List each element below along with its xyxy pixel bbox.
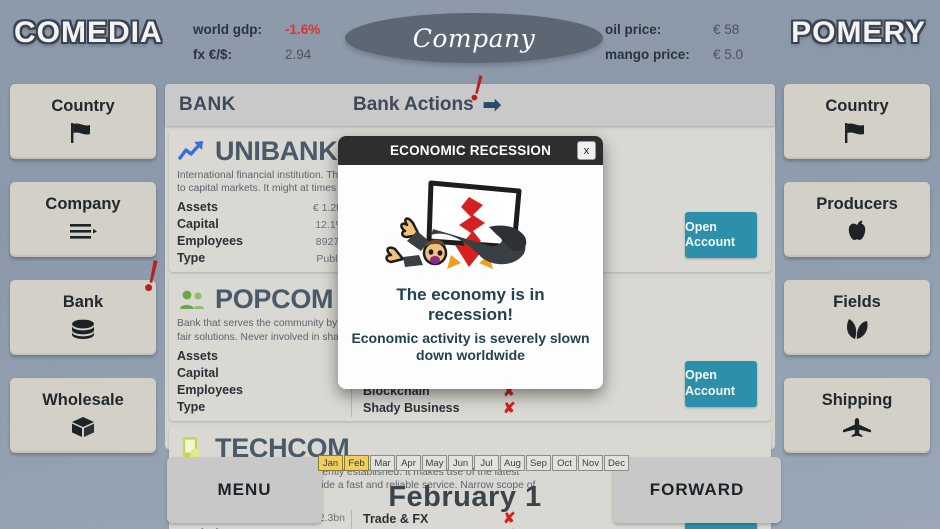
sidebar-item-country-right[interactable]: Country — [784, 84, 930, 159]
stat-fx-label: fx €/$: — [193, 47, 285, 62]
open-account-button[interactable]: Open Account — [685, 522, 757, 529]
page-title: BANK — [179, 94, 236, 116]
open-account-button[interactable]: Open Account — [685, 361, 757, 407]
brand-left: COMEDIA — [14, 16, 163, 50]
month-cell[interactable]: Jul — [474, 455, 499, 471]
stat-mango-price-label: mango price: — [605, 47, 713, 62]
month-cell[interactable]: Dec — [604, 455, 629, 471]
stat-oil-price: oil price: € 58 — [605, 22, 743, 47]
sidebar-item-fields[interactable]: Fields — [784, 280, 930, 355]
market-crash-icon — [338, 165, 603, 283]
bank-stat-key: Employees — [177, 383, 243, 397]
list-lines-icon — [67, 219, 99, 243]
month-cell[interactable]: Sep — [526, 455, 551, 471]
sidebar-item-bank[interactable]: Bank — [10, 280, 156, 355]
stat-world-gdp-label: world gdp: — [193, 22, 285, 37]
stat-world-gdp-value: -1.6% — [285, 22, 320, 37]
bank-stat-row: Employees89273 — [177, 234, 345, 251]
world-stats-right: oil price: € 58 mango price: € 5.0 — [605, 22, 743, 72]
month-timeline: Jan Feb Mar Apr May Jun Jul Aug Sep Oct … — [318, 455, 629, 471]
bank-name: POPCOM — [215, 284, 333, 315]
airplane-icon — [841, 415, 873, 439]
box-icon — [69, 415, 97, 439]
stat-fx-value: 2.94 — [285, 47, 311, 62]
trend-up-icon — [177, 138, 207, 166]
coins-icon — [68, 317, 98, 341]
bank-stat-row: Capital12.1% — [177, 217, 345, 234]
sidebar-right: Country Producers Fields Shipping — [784, 84, 930, 476]
cross-icon: ✘ — [503, 401, 516, 416]
bank-actions-label: Bank Actions — [353, 94, 474, 116]
stat-oil-price-value: € 58 — [713, 22, 739, 37]
bank-stat-key: Type — [177, 400, 205, 414]
month-cell[interactable]: Jan — [318, 455, 343, 471]
bank-stat-key: Type — [177, 251, 205, 265]
stat-world-gdp: world gdp: -1.6% — [193, 22, 320, 47]
leaves-icon — [842, 317, 872, 341]
sidebar-item-producers[interactable]: Producers — [784, 182, 930, 257]
company-selector-pill[interactable]: Company — [345, 13, 603, 63]
month-cell[interactable]: Jun — [448, 455, 473, 471]
bank-stat-key: Assets — [177, 200, 218, 214]
bank-stat-key: Capital — [177, 217, 219, 231]
month-cell[interactable]: Mar — [370, 455, 395, 471]
sidebar-item-label: Country — [51, 98, 114, 115]
month-cell[interactable]: Apr — [396, 455, 421, 471]
sidebar-item-label: Wholesale — [42, 392, 124, 409]
stat-fx: fx €/$: 2.94 — [193, 47, 320, 72]
economic-recession-modal: ECONOMIC RECESSION x — [338, 136, 603, 389]
current-date: February 1 — [322, 481, 608, 514]
stat-mango-price: mango price: € 5.0 — [605, 47, 743, 72]
bank-name: UNIBANK — [215, 136, 337, 167]
top-header: COMEDIA POMERY world gdp: -1.6% fx €/$: … — [0, 0, 940, 82]
sidebar-item-company[interactable]: Company — [10, 182, 156, 257]
sidebar-item-label: Company — [45, 196, 120, 213]
flag-icon — [842, 121, 872, 145]
close-icon[interactable]: x — [577, 141, 596, 160]
modal-titlebar: ECONOMIC RECESSION x — [338, 136, 603, 165]
arrow-right-icon: ➡ — [483, 94, 501, 116]
sidebar-item-wholesale[interactable]: Wholesale — [10, 378, 156, 453]
flag-icon — [68, 121, 98, 145]
bank-stat-row: Employees — [177, 383, 345, 400]
community-icon — [177, 286, 207, 314]
brand-right: POMERY — [791, 16, 926, 50]
month-cell[interactable]: Oct — [552, 455, 577, 471]
sidebar-item-label: Country — [825, 98, 888, 115]
sidebar-item-shipping[interactable]: Shipping — [784, 378, 930, 453]
month-cell[interactable]: May — [422, 455, 447, 471]
modal-heading: The economy is in recession! — [338, 285, 603, 324]
bank-feature-row: Shady Business✘ — [363, 400, 577, 417]
modal-title: ECONOMIC RECESSION — [390, 143, 551, 158]
bank-panel-header: BANK Bank Actions ➡ — [165, 84, 775, 126]
menu-button[interactable]: MENU — [167, 457, 322, 523]
bank-stat-row: Type — [177, 400, 345, 417]
bank-stat-key: Assets — [177, 349, 218, 363]
month-cell[interactable]: Feb — [344, 455, 369, 471]
bank-stat-key: Capital — [177, 366, 219, 380]
month-cell[interactable]: Nov — [578, 455, 603, 471]
world-stats-left: world gdp: -1.6% fx €/$: 2.94 — [193, 22, 320, 72]
bank-stat-key: Employees — [177, 234, 243, 248]
bank-stat-row: Assets€ 1.2tn — [177, 200, 345, 217]
modal-subtext: Economic activity is severely slown down… — [338, 324, 603, 364]
sidebar-item-label: Producers — [816, 196, 898, 213]
stat-mango-price-value: € 5.0 — [713, 47, 743, 62]
alert-exclamation-icon — [144, 258, 160, 298]
month-cell[interactable]: Aug — [500, 455, 525, 471]
bank-stat-row: Assets — [177, 349, 345, 366]
bank-feature-key: Shady Business — [363, 401, 503, 415]
sidebar-item-label: Shipping — [822, 392, 893, 409]
bank-stats: Assets€ 1.2tn Capital12.1% Employees8927… — [177, 200, 352, 268]
sidebar-left: Country Company Bank Wholesale — [10, 84, 156, 476]
open-account-button[interactable]: Open Account — [685, 212, 757, 258]
bank-stats: Assets Capital Employees Type — [177, 349, 352, 417]
forward-button[interactable]: FORWARD — [613, 457, 781, 523]
apple-icon — [843, 219, 871, 243]
game-screen: COMEDIA POMERY world gdp: -1.6% fx €/$: … — [0, 0, 940, 529]
stat-oil-price-label: oil price: — [605, 22, 713, 37]
alert-exclamation-icon — [471, 74, 484, 106]
sidebar-item-label: Fields — [833, 294, 881, 311]
bank-stat-row: Capital — [177, 366, 345, 383]
sidebar-item-country-left[interactable]: Country — [10, 84, 156, 159]
sidebar-item-label: Bank — [63, 294, 103, 311]
bank-stat-row: TypePublic — [177, 251, 345, 268]
company-pill-label: Company — [413, 24, 536, 53]
